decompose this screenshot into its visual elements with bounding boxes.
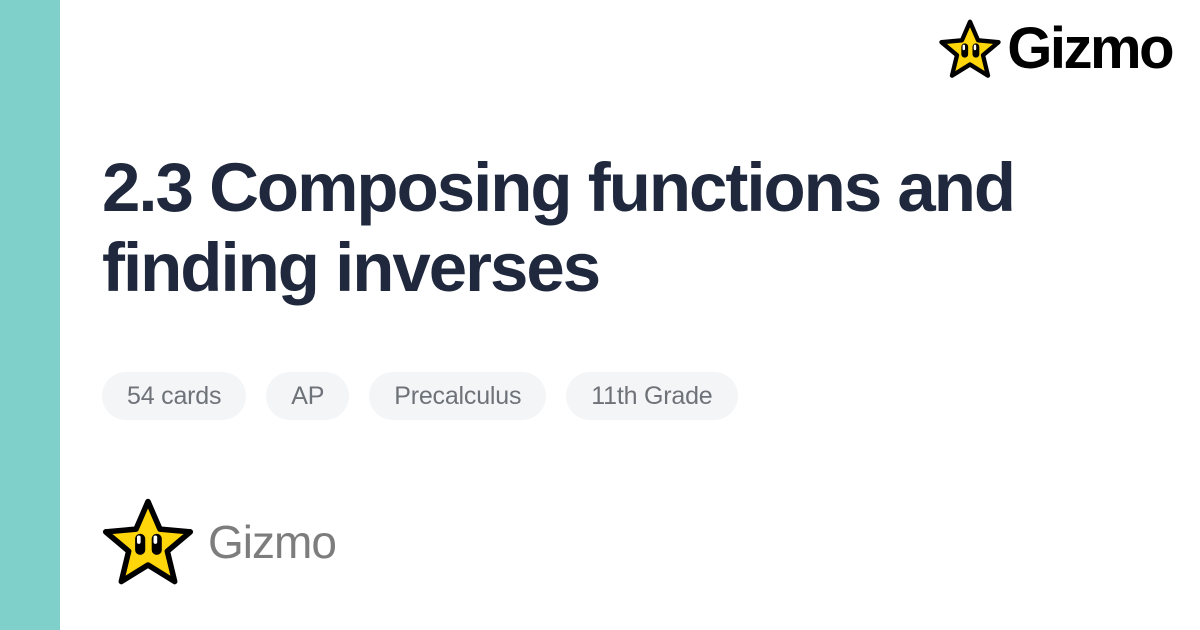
footer-brand-lockup[interactable]: Gizmo bbox=[102, 496, 336, 588]
tag-pill-card-count[interactable]: 54 cards bbox=[102, 372, 246, 420]
footer-brand-name: Gizmo bbox=[208, 519, 336, 565]
gizmo-star-icon bbox=[102, 496, 194, 588]
page-title: 2.3 Composing functions and finding inve… bbox=[102, 148, 1042, 308]
content-column: 2.3 Composing functions and finding inve… bbox=[102, 0, 1102, 630]
tag-row: 54 cards AP Precalculus 11th Grade bbox=[102, 372, 738, 420]
tag-pill-course-level[interactable]: AP bbox=[266, 372, 349, 420]
left-accent-stripe bbox=[0, 0, 60, 630]
flashcard-set-preview-card: Gizmo 2.3 Composing functions and findin… bbox=[0, 0, 1200, 630]
tag-pill-grade[interactable]: 11th Grade bbox=[566, 372, 737, 420]
tag-pill-subject[interactable]: Precalculus bbox=[369, 372, 546, 420]
